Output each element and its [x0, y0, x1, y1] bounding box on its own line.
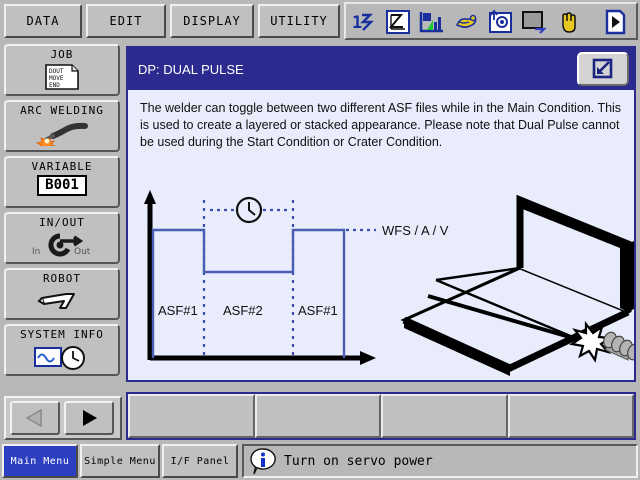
job-document-icon: DOUT MOVE END — [42, 62, 82, 92]
arc-welding-settings-icon[interactable] — [452, 9, 480, 35]
next-page-button[interactable] — [64, 401, 114, 435]
next-page-icon[interactable] — [600, 9, 630, 35]
panel-description: The welder can toggle between two differ… — [128, 90, 634, 151]
sidebar-item-label: SYSTEM INFO — [20, 329, 104, 341]
menu-display[interactable]: DISPLAY — [170, 4, 254, 38]
welding-torch-icon — [35, 118, 89, 148]
svg-text:END: END — [49, 82, 60, 89]
svg-text:MOVE: MOVE — [49, 75, 64, 82]
softkey-bar — [126, 392, 636, 440]
coordinate-frame-icon[interactable] — [384, 9, 412, 35]
page-nav-pad — [4, 396, 122, 440]
page-title: DP: DUAL PULSE — [138, 62, 244, 77]
waveform-label: WFS / A / V — [382, 223, 449, 238]
sidebar-item-system-info[interactable]: SYSTEM INFO — [4, 324, 120, 376]
menu-utility[interactable]: UTILITY — [258, 4, 340, 38]
display-window-icon[interactable] — [520, 9, 548, 35]
tab-main-menu[interactable]: Main Menu — [2, 444, 78, 478]
detail-expand-icon — [590, 57, 616, 81]
panel-title-bar: DP: DUAL PULSE — [128, 48, 634, 90]
menu-edit[interactable]: EDIT — [86, 4, 166, 38]
sidebar-item-variable[interactable]: VARIABLE B001 — [4, 156, 120, 208]
segment-label-2: ASF#2 — [223, 303, 263, 318]
sidebar-item-arc-welding[interactable]: ARC WELDING — [4, 100, 120, 152]
sidebar: JOB DOUT MOVE END ARC WELDING — [4, 44, 122, 384]
x-axis-arrow — [360, 351, 376, 365]
sidebar-item-label: ARC WELDING — [20, 105, 104, 117]
weld-chart-icon[interactable] — [418, 9, 446, 35]
softkey-4[interactable] — [508, 394, 635, 438]
left-arrow-icon — [22, 407, 48, 429]
svg-text:Out: Out — [74, 247, 91, 257]
tab-simple-menu[interactable]: Simple Menu — [80, 444, 160, 478]
waveform-clock-icon — [33, 342, 91, 372]
icon-toolbar: 1 — [344, 2, 638, 40]
robot-arm-icon — [36, 286, 88, 316]
sidebar-item-label: IN/OUT — [39, 217, 85, 229]
menu-data[interactable]: DATA — [4, 4, 82, 38]
previous-page-button[interactable] — [10, 401, 60, 435]
svg-text:In: In — [32, 247, 40, 257]
in-out-arrow-icon: In Out — [30, 230, 94, 260]
detail-expand-button[interactable] — [577, 52, 629, 86]
right-arrow-icon — [76, 407, 102, 429]
segment-label-3: ASF#1 — [298, 303, 338, 318]
teach-pendant-screen: DATA EDIT DISPLAY UTILITY 1 — [0, 0, 640, 480]
sidebar-item-in-out[interactable]: IN/OUT In Out — [4, 212, 120, 264]
segment-label-1: ASF#1 — [158, 303, 198, 318]
sidebar-item-label: VARIABLE — [32, 161, 93, 173]
sidebar-item-job[interactable]: JOB DOUT MOVE END — [4, 44, 120, 96]
timer-clock-icon — [237, 198, 261, 222]
weld-bead — [601, 330, 634, 361]
main-panel: DP: DUAL PULSE The welder can toggle bet… — [126, 46, 636, 382]
info-icon — [248, 446, 278, 476]
sidebar-item-label: JOB — [51, 49, 74, 61]
softkey-3[interactable] — [381, 394, 508, 438]
hand-cursor-icon[interactable] — [554, 9, 582, 35]
panel-body: The welder can toggle between two differ… — [128, 90, 634, 380]
status-message: Turn on servo power — [284, 454, 433, 469]
tab-if-panel[interactable]: I/F Panel — [162, 444, 238, 478]
softkey-2[interactable] — [255, 394, 382, 438]
dual-pulse-figure: WFS / A / V ASF#1 ASF#2 ASF#1 — [128, 168, 634, 380]
svg-text:DOUT: DOUT — [49, 68, 64, 75]
camera-monitor-icon[interactable] — [486, 9, 514, 35]
top-menu-bar: DATA EDIT DISPLAY UTILITY 1 — [0, 0, 640, 42]
variable-value-box: B001 — [37, 175, 87, 196]
y-axis-arrow — [144, 190, 156, 204]
dual-pulse-waveform — [153, 230, 344, 358]
step-sequence-icon[interactable]: 1 — [350, 9, 378, 35]
sidebar-item-label: ROBOT — [43, 273, 81, 285]
status-bar: Turn on servo power — [242, 444, 638, 478]
sidebar-item-robot[interactable]: ROBOT — [4, 268, 120, 320]
softkey-1[interactable] — [128, 394, 255, 438]
